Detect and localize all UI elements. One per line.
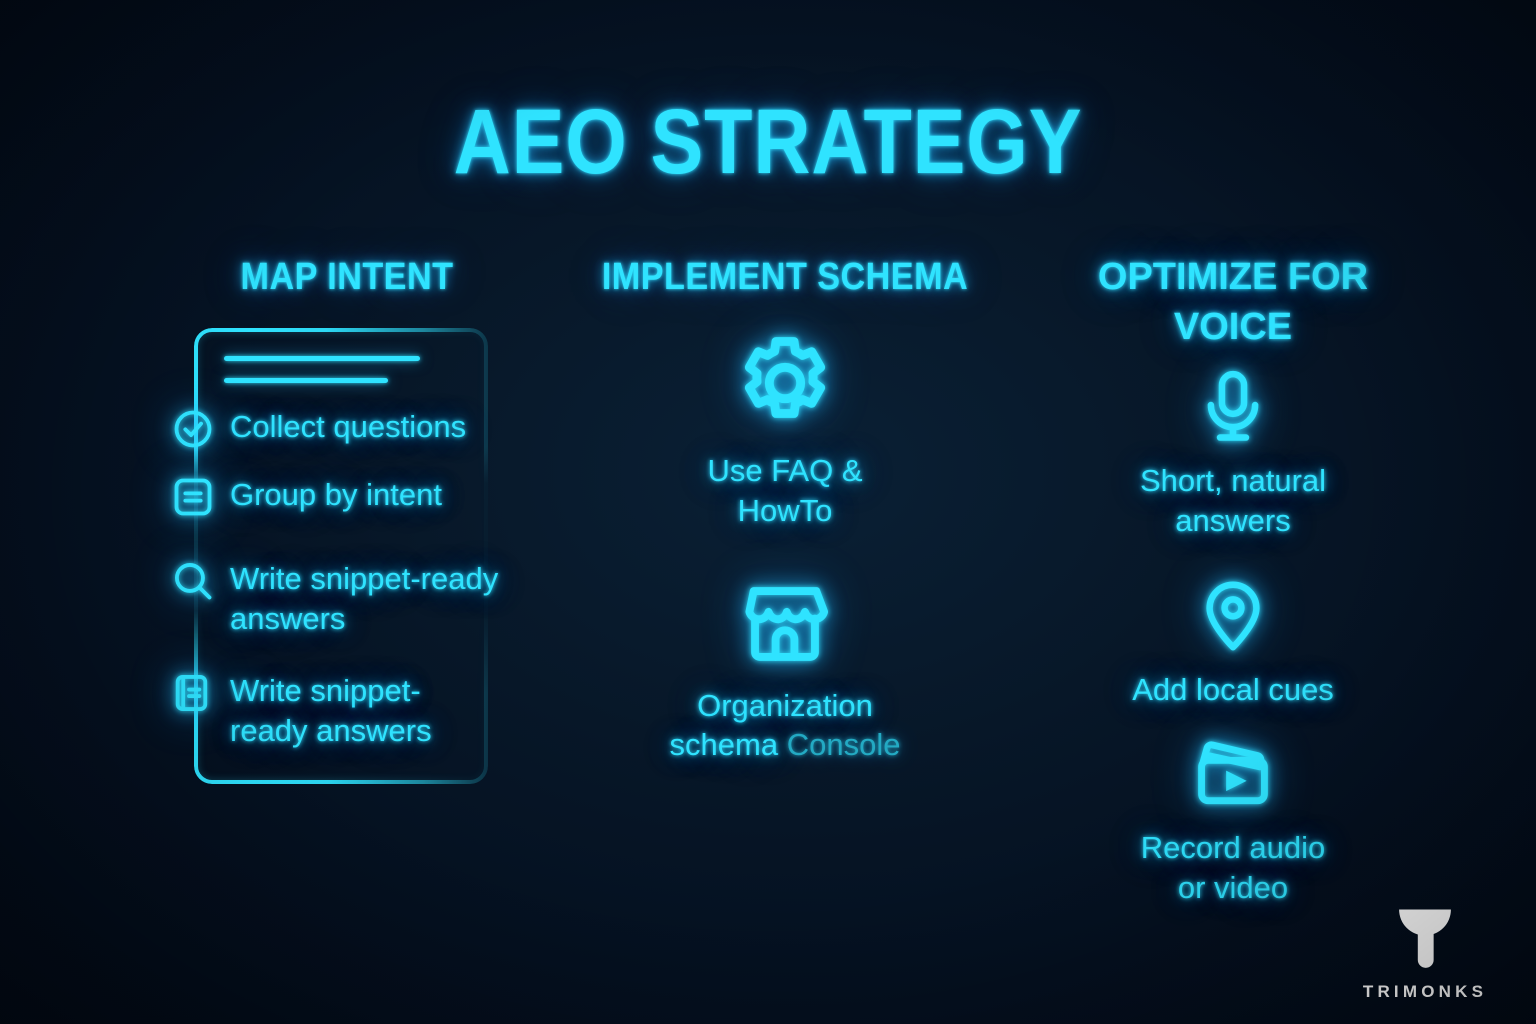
brand-wordmark: TRIMONKS [1350, 982, 1500, 1002]
schema-block-label-line1: Use FAQ & [560, 451, 1010, 491]
gear-icon [560, 330, 1010, 441]
map-intent-list: Collect questions Group by intent [152, 328, 542, 788]
voice-block-label-line1: Short, natural [1044, 461, 1422, 501]
voice-block-record: Record audio or video [1044, 731, 1422, 907]
schema-block-label-line2: schema Console [560, 725, 1010, 765]
schema-block-label-line2-main: schema [670, 727, 787, 762]
list-item: Write snippet-ready answers [170, 556, 570, 640]
voice-block-label-line2: answers [1044, 501, 1422, 541]
column-map-intent: MAP INTENT Collect questions [152, 252, 542, 788]
column-heading-implement-schema: IMPLEMENT SCHEMA [583, 252, 988, 302]
voice-block-label-line1: Add local cues [1044, 670, 1422, 710]
schema-block-label-line1: Organization [560, 686, 1010, 726]
brand-logo: TRIMONKS [1350, 898, 1500, 1002]
schema-block-label-line2: HowTo [560, 491, 1010, 531]
column-heading-optimize-for-voice: OPTIMIZE FOR VOICE [1044, 252, 1422, 352]
voice-block-short-answers: Short, natural answers [1044, 368, 1422, 540]
column-implement-schema: IMPLEMENT SCHEMA Use FAQ & HowTo Organiz… [560, 252, 1010, 765]
list-item: Write snippet-ready answers [170, 668, 570, 752]
voice-block-local-cues: Add local cues [1044, 577, 1422, 710]
list-item-label: Collect questions [230, 404, 466, 447]
clapperboard-icon [1044, 731, 1422, 818]
list-item-label: Write snippet-ready answers [230, 556, 560, 640]
check-circle-icon [170, 406, 216, 452]
schema-block-faq: Use FAQ & HowTo [560, 330, 1010, 530]
list-item-label: Write snippet-ready answers [230, 668, 478, 752]
list-item-label: Group by intent [230, 472, 442, 515]
column-heading-map-intent: MAP INTENT [172, 252, 523, 302]
schema-block-organization: Organization schema Console [560, 577, 1010, 765]
microphone-icon [1044, 368, 1422, 451]
column-optimize-for-voice: OPTIMIZE FOR VOICE Short, natural answer… [1044, 252, 1422, 908]
schema-block-label-line2-secondary: Console [787, 727, 901, 762]
voice-block-label-line1: Record audio [1044, 828, 1422, 868]
infographic-canvas: AEO STRATEGY MAP INTENT Collect question… [0, 0, 1536, 1024]
trimonks-t-mark-icon [1350, 898, 1500, 975]
search-icon [170, 558, 216, 604]
list-item: Collect questions [170, 404, 570, 452]
storefront-icon [560, 577, 1010, 676]
location-pin-icon [1044, 577, 1422, 660]
page-title: AEO STRATEGY [108, 96, 1429, 188]
list-item: Group by intent [170, 472, 570, 520]
frame-rule-top [224, 356, 420, 361]
document-list-icon [170, 670, 216, 716]
list-square-icon [170, 474, 216, 520]
frame-rule-bottom [224, 378, 388, 383]
